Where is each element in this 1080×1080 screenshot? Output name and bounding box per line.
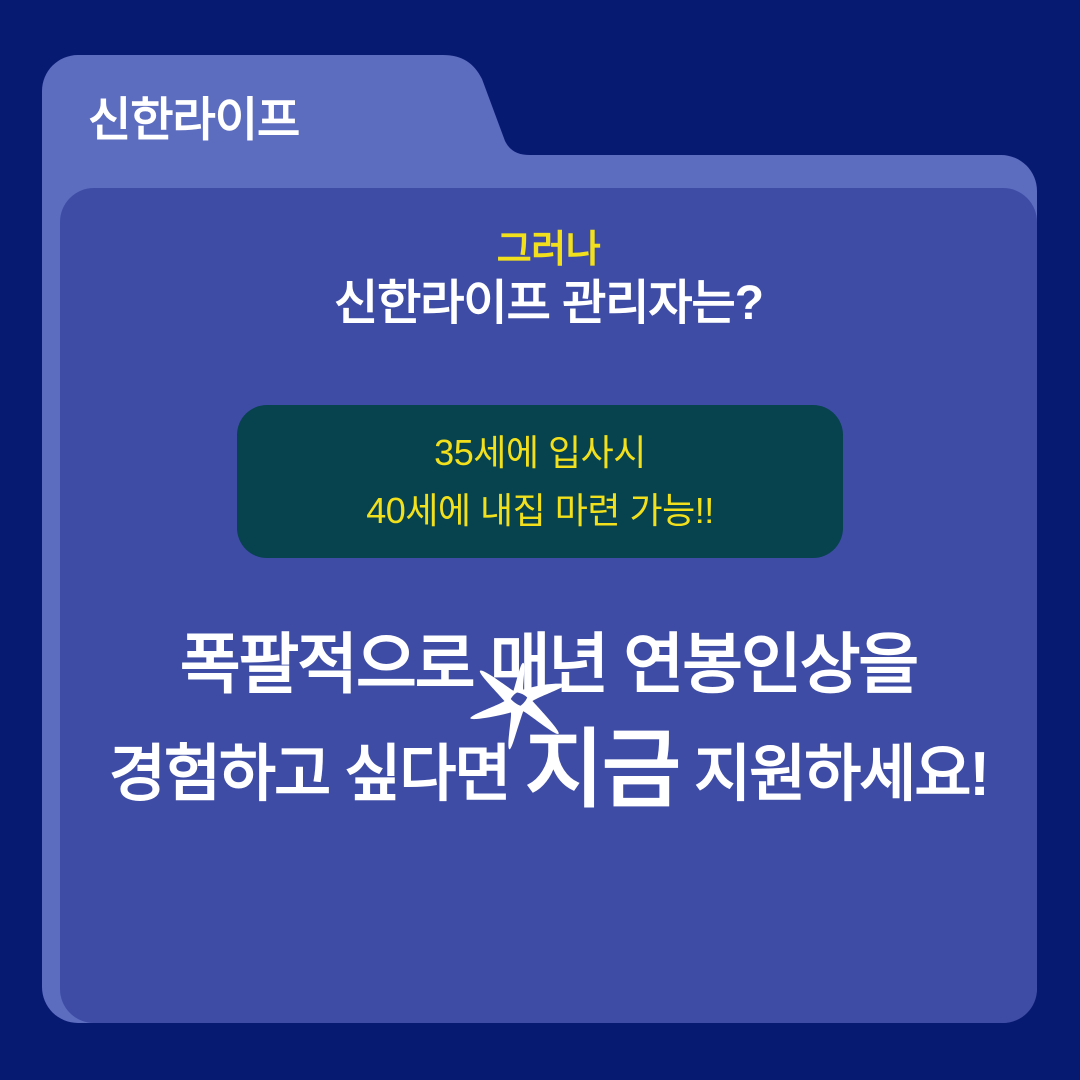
- headline-block: 그러나 신한라이프 관리자는?: [60, 228, 1037, 332]
- highlight-callout-box: 35세에 입사시 40세에 내집 마련 가능!!: [237, 405, 843, 558]
- cta-text-before: 경험하고 싶다면: [109, 740, 525, 809]
- highlight-line-2: 40세에 내집 마련 가능!!: [366, 493, 714, 529]
- cta-text-after: 지원하세요!: [679, 740, 988, 809]
- sparkle-star-icon: [465, 661, 573, 753]
- content-card: 그러나 신한라이프 관리자는? 35세에 입사시 40세에 내집 마련 가능!!…: [60, 188, 1037, 1023]
- headline-eyebrow: 그러나: [60, 228, 1037, 272]
- cta-block: 폭팔적으로 매년 연봉인상을 경험하고 싶다면 지금 지원하세요!: [60, 628, 1037, 817]
- highlight-line-1: 35세에 입사시: [434, 435, 646, 471]
- brand-logo: 신한라이프: [88, 96, 299, 143]
- page-title: 신한라이프 관리자는?: [60, 276, 1037, 332]
- cta-line-2: 경험하고 싶다면 지금 지원하세요!: [60, 723, 1037, 818]
